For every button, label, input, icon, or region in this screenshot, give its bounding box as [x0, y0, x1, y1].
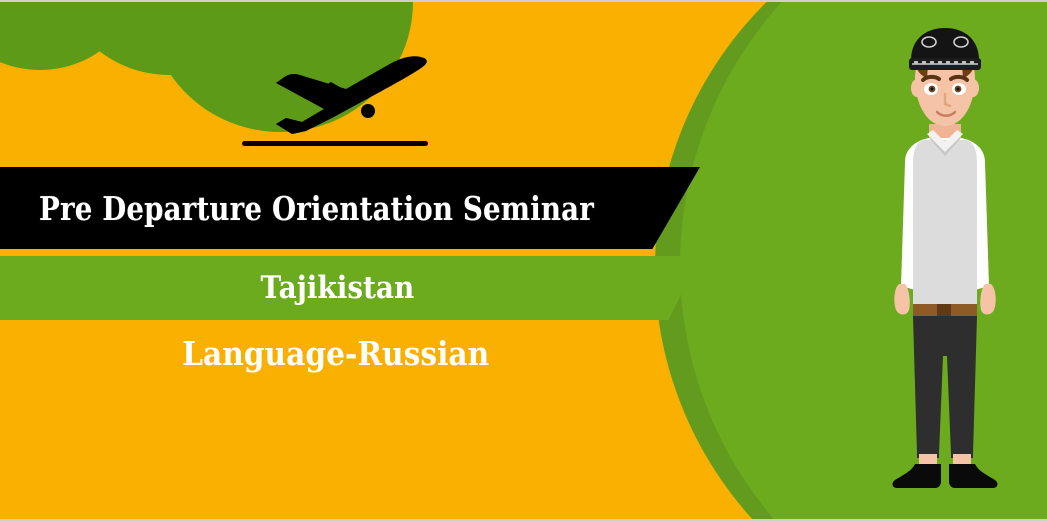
top-border — [0, 0, 1047, 2]
country-label: Tajikistan — [35, 256, 665, 320]
country-band: Tajikistan — [0, 256, 700, 320]
runway-line-icon — [242, 141, 428, 146]
airplane-takeoff-icon — [228, 52, 438, 148]
cloud-circles-icon — [0, 0, 360, 60]
language-band: Language-Russian — [0, 322, 700, 384]
title-banner: Pre Departure Orientation Seminar — [0, 167, 700, 249]
poster-canvas: Pre Departure Orientation Seminar Tajiki… — [0, 0, 1047, 521]
page-title: Pre Departure Orientation Seminar — [0, 167, 651, 249]
language-label: Language-Russian — [182, 334, 489, 373]
tajik-man-character-icon — [865, 16, 1025, 512]
